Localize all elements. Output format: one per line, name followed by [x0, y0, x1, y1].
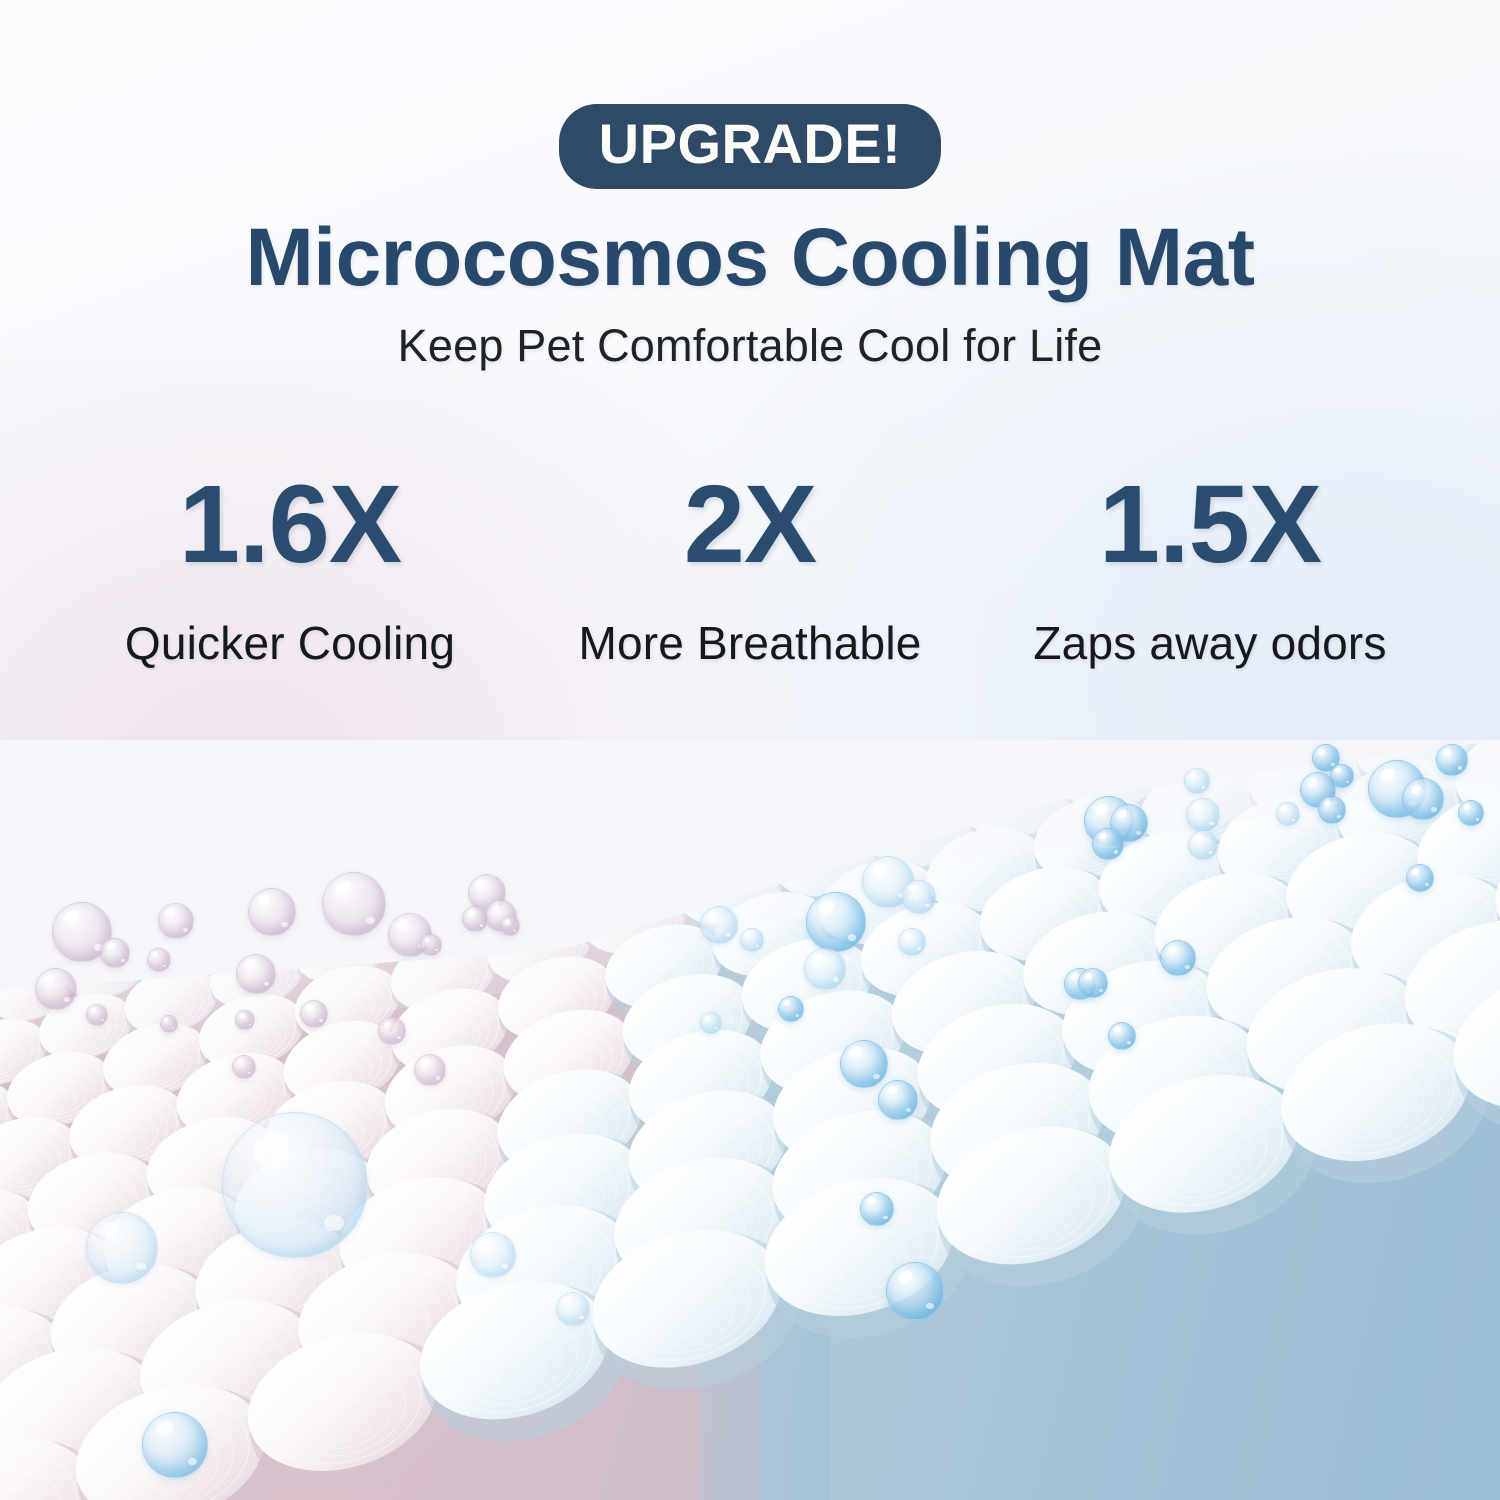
upgrade-badge: UPGRADE!: [559, 104, 942, 189]
stat-value: 2X: [520, 470, 980, 580]
stat-label: More Breathable: [520, 616, 980, 670]
stat-quicker-cooling: 1.6X Quicker Cooling: [60, 470, 520, 670]
stat-more-breathable: 2X More Breathable: [520, 470, 980, 670]
stat-zaps-away-odors: 1.5X Zaps away odors: [980, 470, 1440, 670]
stats-row: 1.6X Quicker Cooling 2X More Breathable …: [60, 470, 1440, 670]
page-title: Microcosmos Cooling Mat: [0, 215, 1500, 300]
product-infographic: UPGRADE! Microcosmos Cooling Mat Keep Pe…: [0, 0, 1500, 1500]
stat-value: 1.5X: [980, 470, 1440, 580]
stat-label: Quicker Cooling: [60, 616, 520, 670]
stat-label: Zaps away odors: [980, 616, 1440, 670]
stat-value: 1.6X: [60, 470, 520, 580]
mat-texture-illustration: [0, 740, 1500, 1500]
page-subtitle: Keep Pet Comfortable Cool for Life: [0, 320, 1500, 372]
header: UPGRADE! Microcosmos Cooling Mat Keep Pe…: [0, 0, 1500, 372]
cooling-mat-image: [0, 740, 1500, 1500]
